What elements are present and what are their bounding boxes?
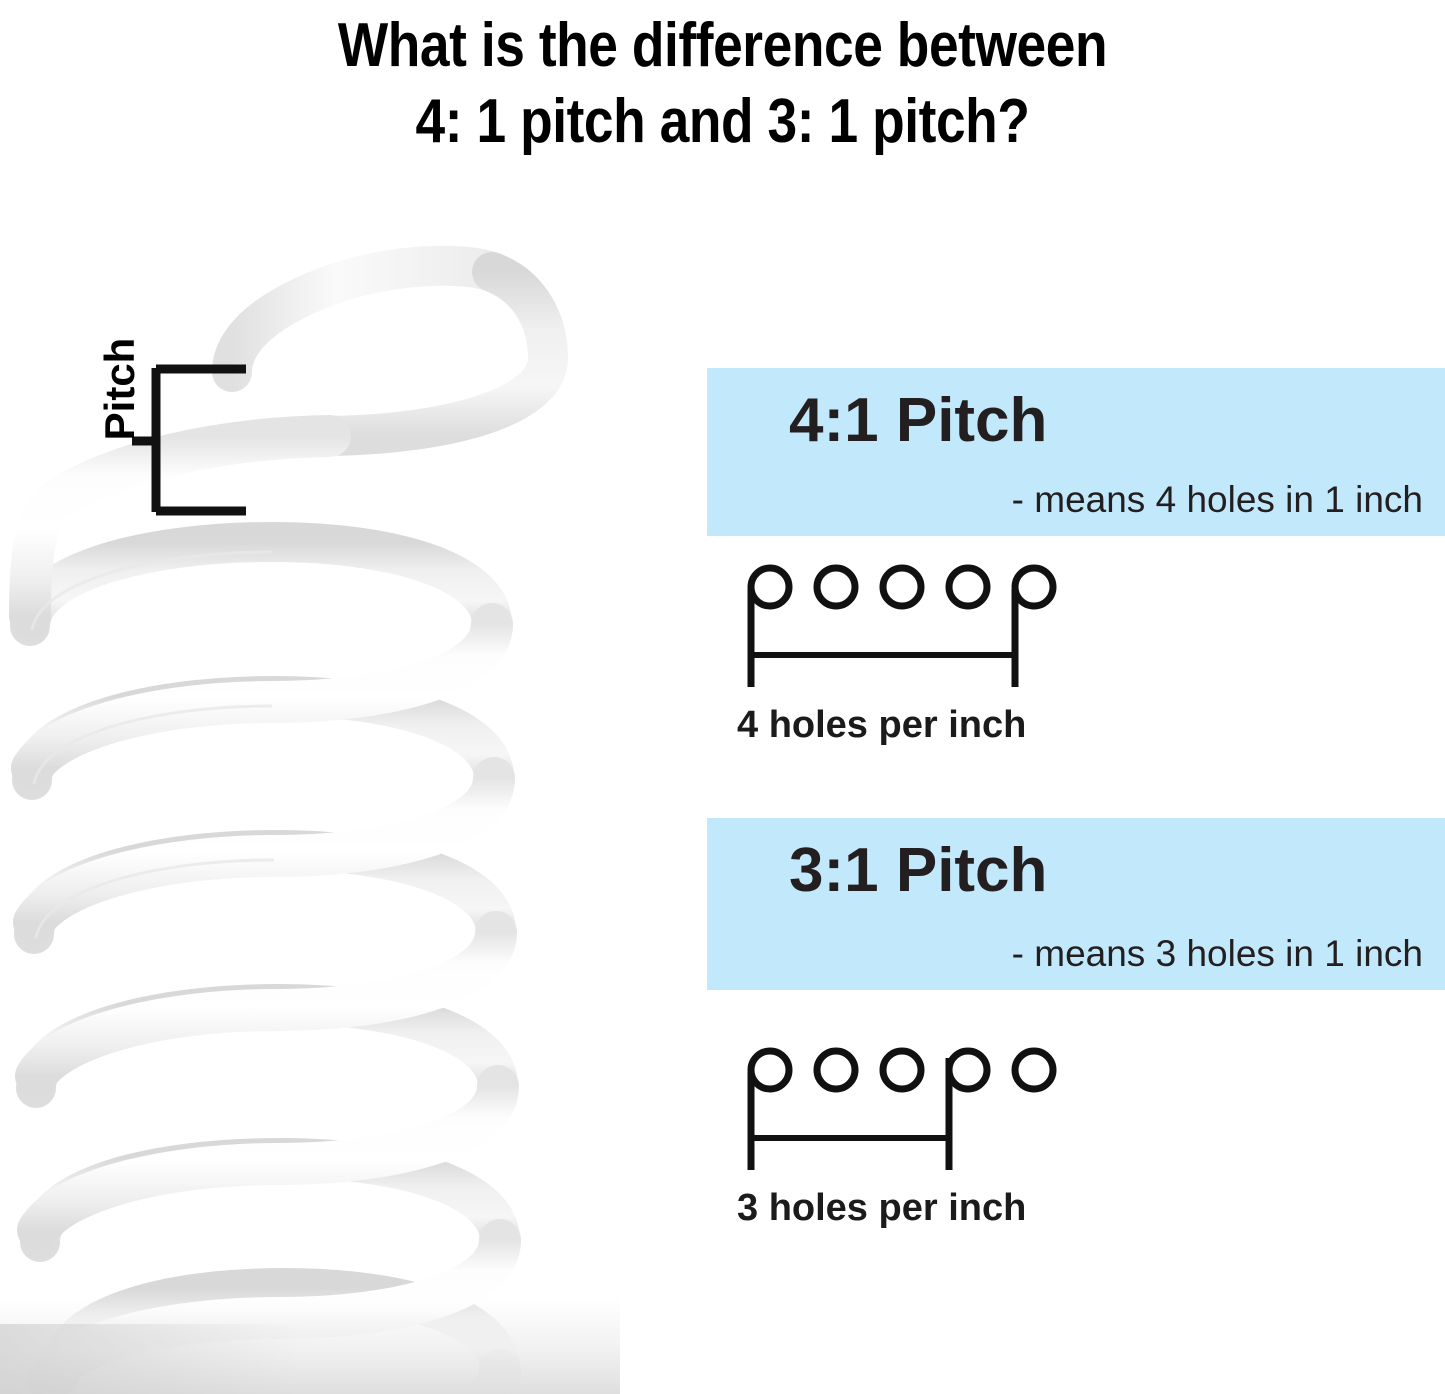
pitch-card-4-1-subtext: - means 4 holes in 1 inch	[1012, 478, 1423, 522]
pitch-bracket-icon	[60, 355, 260, 535]
explanation-column: 4:1 Pitch - means 4 holes in 1 inch	[707, 0, 1445, 1394]
hole-circle	[949, 1051, 987, 1089]
holes-diagram-3-svg	[737, 1038, 1097, 1178]
hole-circle	[817, 1051, 855, 1089]
hole-circle	[817, 568, 855, 606]
holes-diagram-4-svg	[737, 555, 1097, 695]
pitch-card-3-1-subtext: - means 3 holes in 1 inch	[1012, 932, 1423, 976]
holes-diagram-3-per-inch: 3 holes per inch	[737, 1038, 1097, 1238]
pitch-label: Pitch	[98, 309, 142, 469]
hole-circle	[751, 1051, 789, 1089]
holes-diagram-3-caption: 3 holes per inch	[737, 1186, 1026, 1230]
pitch-card-4-1: 4:1 Pitch - means 4 holes in 1 inch	[707, 368, 1445, 536]
hole-circle	[1015, 568, 1053, 606]
pitch-card-3-1-heading: 3:1 Pitch	[789, 836, 1047, 906]
hole-circle	[883, 568, 921, 606]
pitch-comparison-infographic: What is the difference between 4: 1 pitc…	[0, 0, 1445, 1394]
coil-floor-shadow-left	[0, 1324, 300, 1394]
pitch-measurement-annotation: Pitch	[60, 355, 260, 535]
hole-circle	[1015, 1051, 1053, 1089]
pitch-card-3-1: 3:1 Pitch - means 3 holes in 1 inch	[707, 818, 1445, 990]
hole-circle	[751, 568, 789, 606]
hole-circle	[883, 1051, 921, 1089]
hole-circle	[949, 568, 987, 606]
pitch-card-4-1-heading: 4:1 Pitch	[789, 386, 1047, 456]
holes-diagram-4-per-inch: 4 holes per inch	[737, 555, 1097, 755]
holes-diagram-4-caption: 4 holes per inch	[737, 703, 1026, 747]
